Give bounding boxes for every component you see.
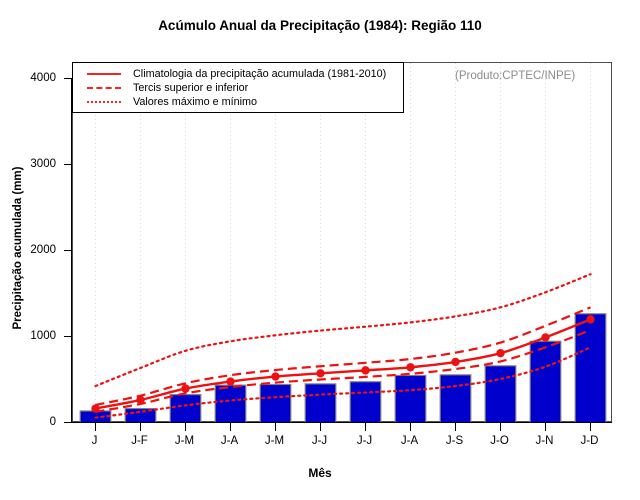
x-tick-label: J-M — [265, 435, 284, 447]
series-marker — [541, 333, 549, 341]
series-marker — [496, 349, 504, 357]
bar — [440, 375, 471, 423]
x-axis: JJ-FJ-MJ-AJ-MJ-JJ-JJ-AJ-SJ-OJ-NJ-D — [72, 422, 612, 462]
bar — [305, 384, 336, 423]
x-tick-mark — [545, 423, 546, 431]
x-tick-mark — [410, 423, 411, 431]
bar — [215, 385, 246, 423]
series-marker — [91, 404, 99, 412]
bar — [170, 395, 201, 423]
legend-label-extremes: Valores máximo e mínimo — [133, 96, 257, 108]
bar — [485, 366, 516, 423]
legend-label-climatology: Climatologia da precipitação acumulada (… — [133, 68, 386, 80]
bar — [530, 341, 561, 423]
x-tick-mark — [365, 423, 366, 431]
series-marker — [406, 363, 414, 371]
y-tick-label: 1000 — [30, 330, 56, 342]
series-marker — [136, 396, 144, 404]
x-tick-mark — [590, 423, 591, 431]
x-tick-label: J-J — [357, 435, 372, 447]
product-annotation: (Produto:CPTEC/INPE) — [455, 70, 575, 82]
x-tick-mark — [185, 423, 186, 431]
y-tick-mark — [64, 336, 72, 337]
legend-item-terciles: Tercis superior e inferior — [73, 81, 403, 95]
series-marker — [181, 384, 189, 392]
x-tick-label: J-F — [131, 435, 148, 447]
y-tick-label: 2000 — [30, 244, 56, 256]
x-axis-line — [72, 422, 612, 423]
y-tick-label: 0 — [50, 416, 56, 428]
x-tick-mark — [230, 423, 231, 431]
series-marker — [271, 372, 279, 380]
series-marker — [226, 377, 234, 385]
x-tick-mark — [500, 423, 501, 431]
x-tick-mark — [140, 423, 141, 431]
series-marker — [586, 315, 594, 323]
x-tick-mark — [320, 423, 321, 431]
y-tick-label: 3000 — [30, 158, 56, 170]
x-tick-label: J-M — [175, 435, 194, 447]
x-axis-title: Mês — [0, 466, 640, 480]
series-marker — [451, 358, 459, 366]
x-tick-mark — [455, 423, 456, 431]
series-marker — [361, 366, 369, 374]
plot-area — [72, 62, 612, 422]
legend: Climatologia da precipitação acumulada (… — [72, 62, 404, 113]
bar — [260, 384, 291, 423]
x-tick-label: J-D — [581, 435, 599, 447]
x-tick-label: J-S — [446, 435, 463, 447]
precipitation-chart: Acúmulo Anual da Precipitação (1984): Re… — [0, 0, 640, 500]
plot-svg — [73, 63, 613, 423]
y-axis: 01000200030004000 — [0, 62, 72, 422]
chart-title: Acúmulo Anual da Precipitação (1984): Re… — [0, 18, 640, 33]
y-tick-mark — [64, 250, 72, 251]
x-tick-label: J-N — [536, 435, 554, 447]
x-tick-label: J-J — [312, 435, 327, 447]
series-marker — [316, 369, 324, 377]
bar — [395, 375, 426, 423]
x-tick-label: J-A — [221, 435, 238, 447]
y-axis-title: Precipitação acumulada (mm) — [12, 98, 24, 398]
legend-key-dotted-icon — [83, 96, 127, 108]
y-tick-mark — [64, 78, 72, 79]
legend-key-dashed-icon — [83, 82, 127, 94]
x-tick-mark — [275, 423, 276, 431]
bar — [350, 382, 381, 423]
y-tick-label: 4000 — [30, 72, 56, 84]
legend-label-terciles: Tercis superior e inferior — [133, 82, 248, 94]
x-tick-label: J — [92, 435, 98, 447]
legend-item-climatology: Climatologia da precipitação acumulada (… — [73, 67, 403, 81]
y-tick-mark — [64, 422, 72, 423]
legend-key-solid-icon — [83, 68, 127, 80]
y-tick-mark — [64, 164, 72, 165]
x-tick-label: J-A — [401, 435, 418, 447]
x-tick-label: J-O — [490, 435, 509, 447]
x-tick-mark — [95, 423, 96, 431]
legend-item-extremes: Valores máximo e mínimo — [73, 95, 403, 109]
